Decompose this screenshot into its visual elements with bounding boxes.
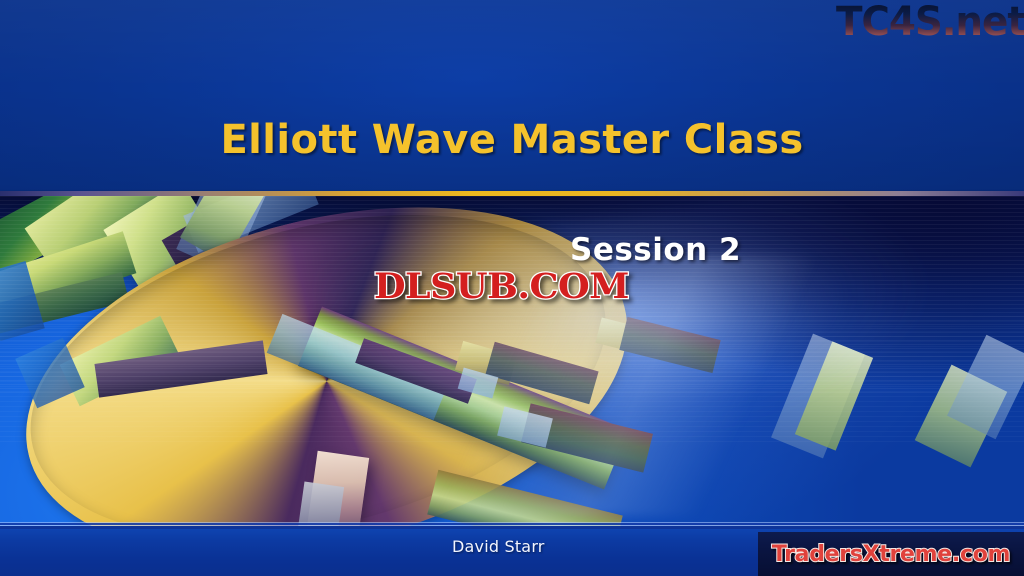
presenter-name: David Starr [452, 537, 545, 556]
page-title: Elliott Wave Master Class [0, 120, 1024, 160]
tc4s-watermark: TC4S.net [836, 1, 1024, 43]
dlsub-watermark: DLSUB.COM [374, 266, 629, 307]
bottom-separator-line [0, 522, 1024, 529]
scanline-texture-lower [0, 316, 1024, 446]
session-label: Session 2 [570, 232, 741, 268]
background-graphic [0, 196, 1024, 576]
tradersxtreme-logo-text: TradersXtreme.com [772, 542, 1010, 567]
presentation-slide: Elliott Wave Master Class [0, 0, 1024, 576]
tradersxtreme-logo: TradersXtreme.com [758, 532, 1024, 576]
